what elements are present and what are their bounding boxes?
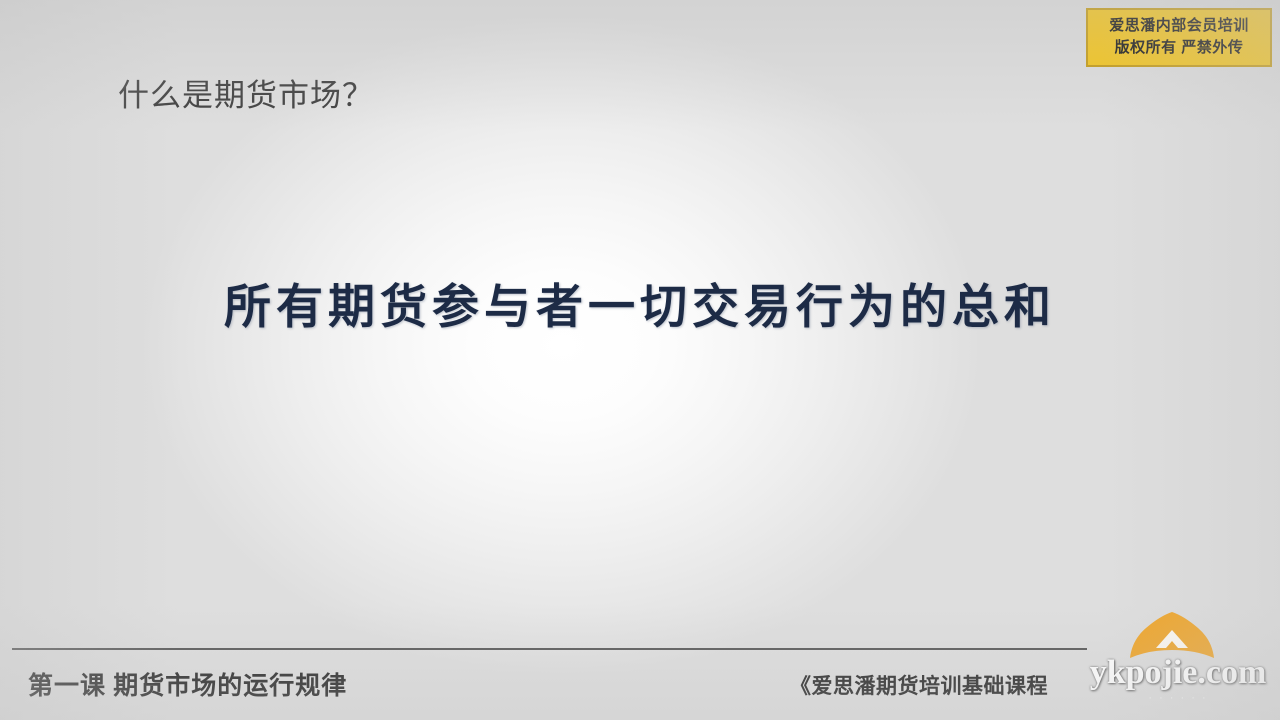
page-title: 什么是期货市场？ <box>118 70 374 115</box>
main-statement-text: 所有期货参与者一切交易行为的总和 <box>0 268 1280 337</box>
footer-course-title: 《爱思潘期货培训基础课程 <box>790 670 1048 700</box>
copyright-stamp: 爱思潘内部会员培训 版权所有 严禁外传 <box>1086 8 1272 67</box>
watermark-subtext: · · · · · · <box>1078 692 1278 704</box>
watermark-text: ykpojie.com <box>1078 654 1278 692</box>
presentation-slide: 什么是期货市场？ 所有期货参与者一切交易行为的总和 爱思潘内部会员培训 版权所有… <box>0 0 1280 720</box>
copyright-stamp-line-1: 爱思潘内部会员培训 <box>1092 15 1266 37</box>
footer-divider <box>12 648 1087 650</box>
watermark: ykpojie.com · · · · · · <box>1078 606 1278 718</box>
copyright-stamp-line-2: 版权所有 严禁外传 <box>1092 37 1266 59</box>
footer-lesson-title: 第一课 期货市场的运行规律 <box>28 666 347 702</box>
